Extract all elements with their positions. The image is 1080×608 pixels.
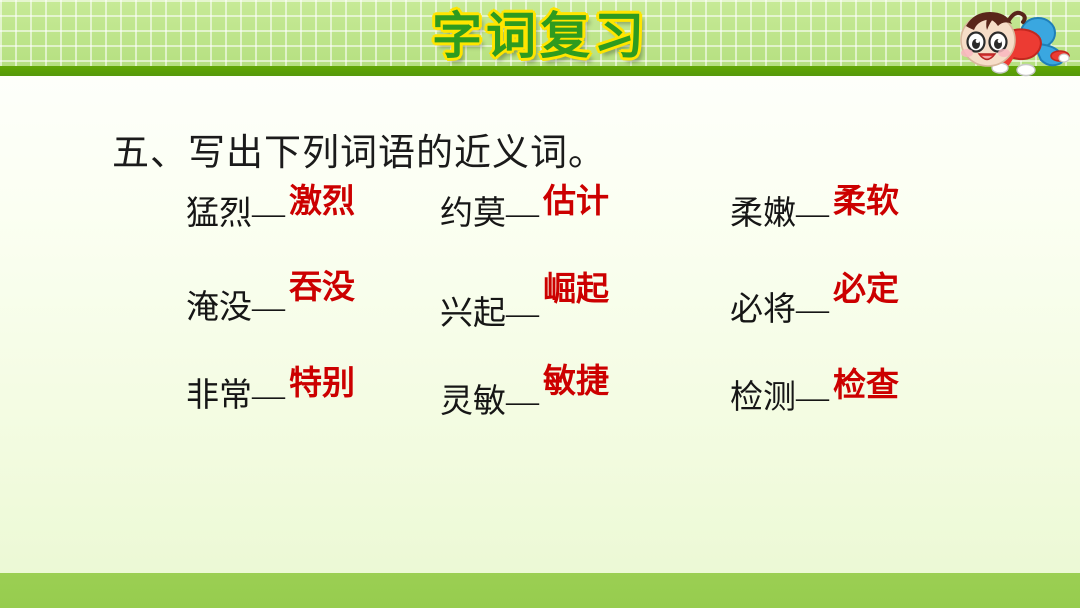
footer-band bbox=[0, 573, 1080, 608]
word-answer: 估计 bbox=[543, 184, 609, 220]
word-pair-item: 约莫—估计 bbox=[440, 186, 609, 234]
word-prompt: 检测— bbox=[730, 380, 829, 416]
header-divider-rule bbox=[0, 66, 1080, 76]
word-pair-item: 兴起—崛起 bbox=[440, 286, 609, 334]
word-pairs-row: 非常—特别 灵敏—敏捷 检测—检查 bbox=[0, 362, 1080, 450]
page-title: 字词复习 bbox=[0, 6, 1080, 66]
word-pairs-row: 猛烈—激烈 约莫—估计 柔嫩—柔软 bbox=[0, 186, 1080, 274]
word-pair-item: 猛烈—激烈 bbox=[186, 186, 355, 234]
word-answer: 必定 bbox=[833, 272, 899, 308]
word-pair-item: 检测—检查 bbox=[730, 370, 899, 418]
word-prompt: 淹没— bbox=[186, 290, 285, 326]
word-prompt: 非常— bbox=[186, 378, 285, 414]
word-pair-item: 柔嫩—柔软 bbox=[730, 186, 899, 234]
word-prompt: 灵敏— bbox=[440, 384, 539, 420]
word-answer: 检查 bbox=[833, 368, 899, 404]
word-answer: 敏捷 bbox=[543, 364, 609, 400]
word-pairs-grid: 猛烈—激烈 约莫—估计 柔嫩—柔软 淹没—吞没 兴起—崛起 必将—必定 非常—特… bbox=[0, 186, 1080, 450]
word-answer: 柔软 bbox=[833, 184, 899, 220]
word-pair-item: 灵敏—敏捷 bbox=[440, 374, 609, 422]
word-prompt: 兴起— bbox=[440, 296, 539, 332]
word-pair-item: 淹没—吞没 bbox=[186, 280, 355, 328]
word-prompt: 约莫— bbox=[440, 196, 539, 232]
word-prompt: 柔嫩— bbox=[730, 196, 829, 232]
word-answer: 吞没 bbox=[289, 270, 355, 306]
word-answer: 崛起 bbox=[543, 272, 609, 308]
crawling-child-mascot-icon bbox=[952, 0, 1080, 80]
word-answer: 激烈 bbox=[289, 184, 355, 220]
word-prompt: 必将— bbox=[730, 292, 829, 328]
word-answer: 特别 bbox=[289, 366, 355, 402]
word-prompt: 猛烈— bbox=[186, 196, 285, 232]
slide: 字词复习 bbox=[0, 0, 1080, 608]
word-pairs-row: 淹没—吞没 兴起—崛起 必将—必定 bbox=[0, 274, 1080, 362]
word-pair-item: 必将—必定 bbox=[730, 282, 899, 330]
question-text: 五、写出下列词语的近义词。 bbox=[112, 122, 606, 176]
word-pair-item: 非常—特别 bbox=[186, 368, 355, 416]
